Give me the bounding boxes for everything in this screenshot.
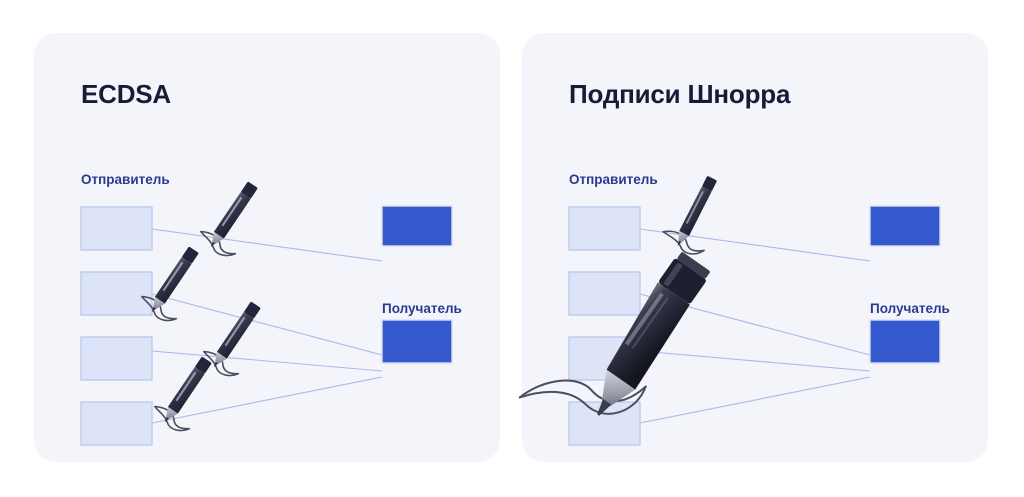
sender-boxes-ecdsa bbox=[81, 207, 152, 445]
sender-box-2[interactable] bbox=[569, 272, 640, 315]
sender-box-1[interactable] bbox=[81, 207, 152, 250]
link-s4-r2 bbox=[640, 377, 870, 423]
link-s3-r2 bbox=[640, 351, 870, 371]
schnorr-canvas bbox=[522, 33, 988, 462]
receiver-boxes-ecdsa bbox=[382, 206, 452, 363]
receiver-box-2[interactable] bbox=[382, 320, 452, 363]
receiver-box-1[interactable] bbox=[870, 206, 940, 246]
sender-box-1[interactable] bbox=[569, 207, 640, 250]
pen-icon-small bbox=[659, 169, 735, 259]
sender-box-3[interactable] bbox=[81, 337, 152, 380]
diagram-stage: ECDSA Отправитель Получатель bbox=[0, 0, 1024, 497]
panel-ecdsa: ECDSA Отправитель Получатель bbox=[34, 33, 500, 462]
receiver-box-2[interactable] bbox=[870, 320, 940, 363]
pen-icon-1 bbox=[196, 175, 273, 261]
ecdsa-canvas bbox=[34, 33, 500, 462]
panel-schnorr: Подписи Шнорра Отправитель Получатель bbox=[522, 33, 988, 462]
sender-box-2[interactable] bbox=[81, 272, 152, 315]
link-s2-r2 bbox=[152, 294, 382, 355]
sender-box-4[interactable] bbox=[81, 402, 152, 445]
link-s1-r1 bbox=[640, 229, 870, 261]
pen-icon-3 bbox=[199, 295, 276, 381]
receiver-box-1[interactable] bbox=[382, 206, 452, 246]
receiver-boxes-schnorr bbox=[870, 206, 940, 363]
link-s3-r2 bbox=[152, 351, 382, 371]
